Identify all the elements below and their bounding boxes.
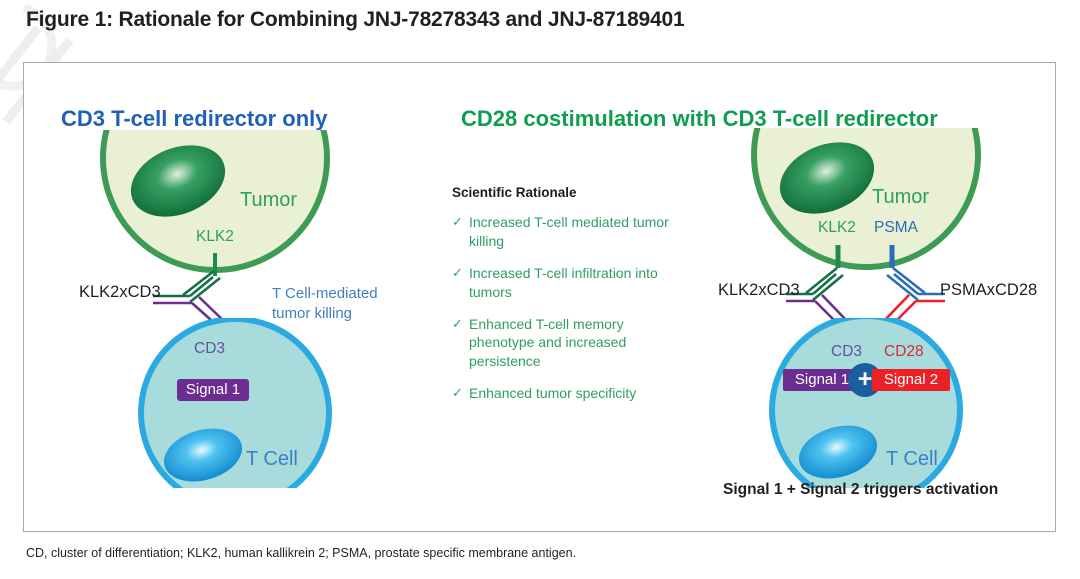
rationale-item: ✓ Enhanced T-cell memory phenotype and i… xyxy=(452,315,684,372)
rationale-heading: Scientific Rationale xyxy=(452,185,684,200)
left-signal1-badge: Signal 1 xyxy=(177,379,249,401)
figure-footnote: CD, cluster of differentiation; KLK2, hu… xyxy=(26,546,576,560)
right-cd3-label: CD3 xyxy=(831,343,862,361)
rationale-item-text: Increased T-cell infiltration into tumor… xyxy=(469,264,684,302)
left-klk2-label: KLK2 xyxy=(196,228,234,246)
check-icon: ✓ xyxy=(452,264,469,282)
right-t-cell xyxy=(772,316,960,504)
right-t-cell-label: T Cell xyxy=(886,448,938,471)
rationale-item: ✓ Increased T-cell mediated tumor killin… xyxy=(452,213,684,251)
rationale-item-text: Enhanced T-cell memory phenotype and inc… xyxy=(469,315,684,372)
right-antibody-psmaxcd28-label: PSMAxCD28 xyxy=(940,281,1037,300)
scientific-rationale-block: Scientific Rationale ✓ Increased T-cell … xyxy=(452,185,684,416)
right-klk2-label: KLK2 xyxy=(818,219,856,237)
left-t-cell xyxy=(141,319,329,507)
activation-caption: Signal 1 + Signal 2 triggers activation xyxy=(723,481,998,499)
left-cd3-label: CD3 xyxy=(194,340,225,358)
left-antibody-label: KLK2xCD3 xyxy=(79,283,161,302)
rationale-item-text: Enhanced tumor specificity xyxy=(469,384,636,403)
right-tumor-label: Tumor xyxy=(872,186,929,209)
left-tumor-label: Tumor xyxy=(240,189,297,212)
check-icon: ✓ xyxy=(452,315,469,333)
check-icon: ✓ xyxy=(452,213,469,231)
left-action-label: T Cell-mediated tumor killing xyxy=(272,284,392,324)
rationale-item: ✓ Increased T-cell infiltration into tum… xyxy=(452,264,684,302)
left-t-cell-label: T Cell xyxy=(246,448,298,471)
rationale-item: ✓ Enhanced tumor specificity xyxy=(452,384,684,403)
check-icon: ✓ xyxy=(452,384,469,402)
right-antibody-klk2xcd3-label: KLK2xCD3 xyxy=(718,281,800,300)
right-cd28-label: CD28 xyxy=(884,343,924,361)
right-signal2-badge: Signal 2 xyxy=(872,369,950,391)
right-psma-label: PSMA xyxy=(874,219,918,237)
rationale-item-text: Increased T-cell mediated tumor killing xyxy=(469,213,684,251)
